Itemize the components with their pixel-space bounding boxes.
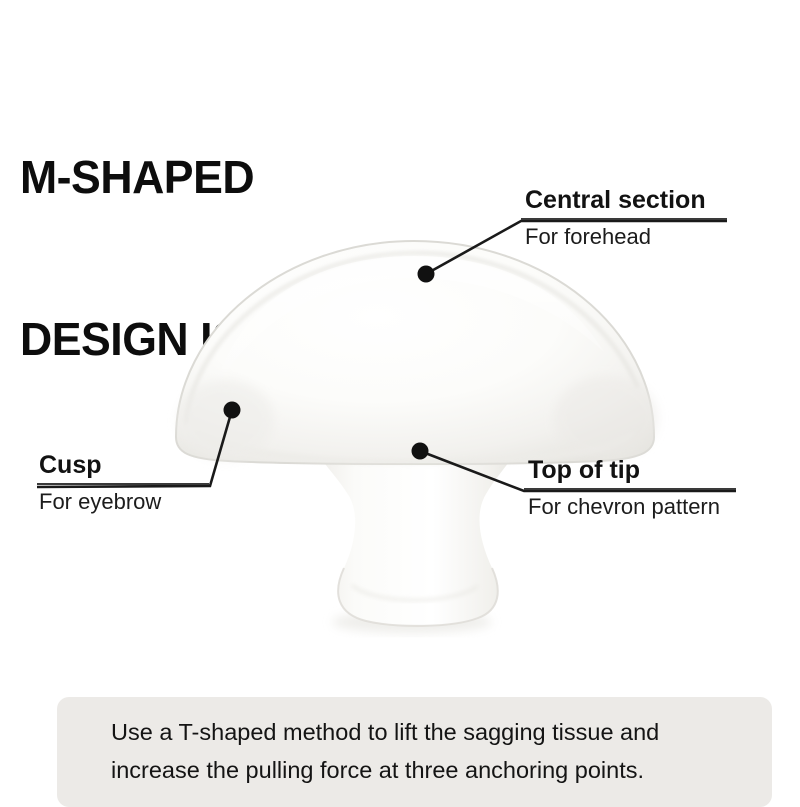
callout-cusp-title: Cusp: [37, 451, 209, 480]
callout-toptip-rule: [524, 488, 736, 490]
page-title: M-SHAPED DESIGN IS TIGHT: [20, 42, 641, 474]
callout-toptip-subtitle: For chevron pattern: [524, 493, 736, 520]
caption-panel: Use a T-shaped method to lift the saggin…: [57, 697, 772, 807]
callout-central-title: Central section: [521, 186, 727, 215]
infographic-root: M-SHAPED DESIGN IS TIGHT: [0, 0, 800, 800]
callout-cusp: Cusp For eyebrow: [37, 451, 209, 515]
caption-line-1: Use a T-shaped method to lift the saggin…: [111, 713, 746, 751]
product-foot-edge: [338, 568, 498, 626]
product-shadow: [332, 611, 492, 633]
callout-central-section: Central section For forehead: [521, 186, 727, 250]
callout-top-of-tip: Top of tip For chevron pattern: [524, 456, 736, 520]
callout-cusp-rule: [37, 483, 209, 485]
callout-central-rule: [521, 218, 727, 220]
callout-central-subtitle: For forehead: [521, 223, 727, 250]
page-title-line-2: DESIGN IS TIGHT: [20, 312, 641, 366]
callout-toptip-title: Top of tip: [524, 456, 736, 485]
product-foot-highlight: [352, 585, 478, 600]
callout-cusp-subtitle: For eyebrow: [37, 488, 209, 515]
caption-line-2: increase the pulling force at three anch…: [111, 751, 746, 789]
